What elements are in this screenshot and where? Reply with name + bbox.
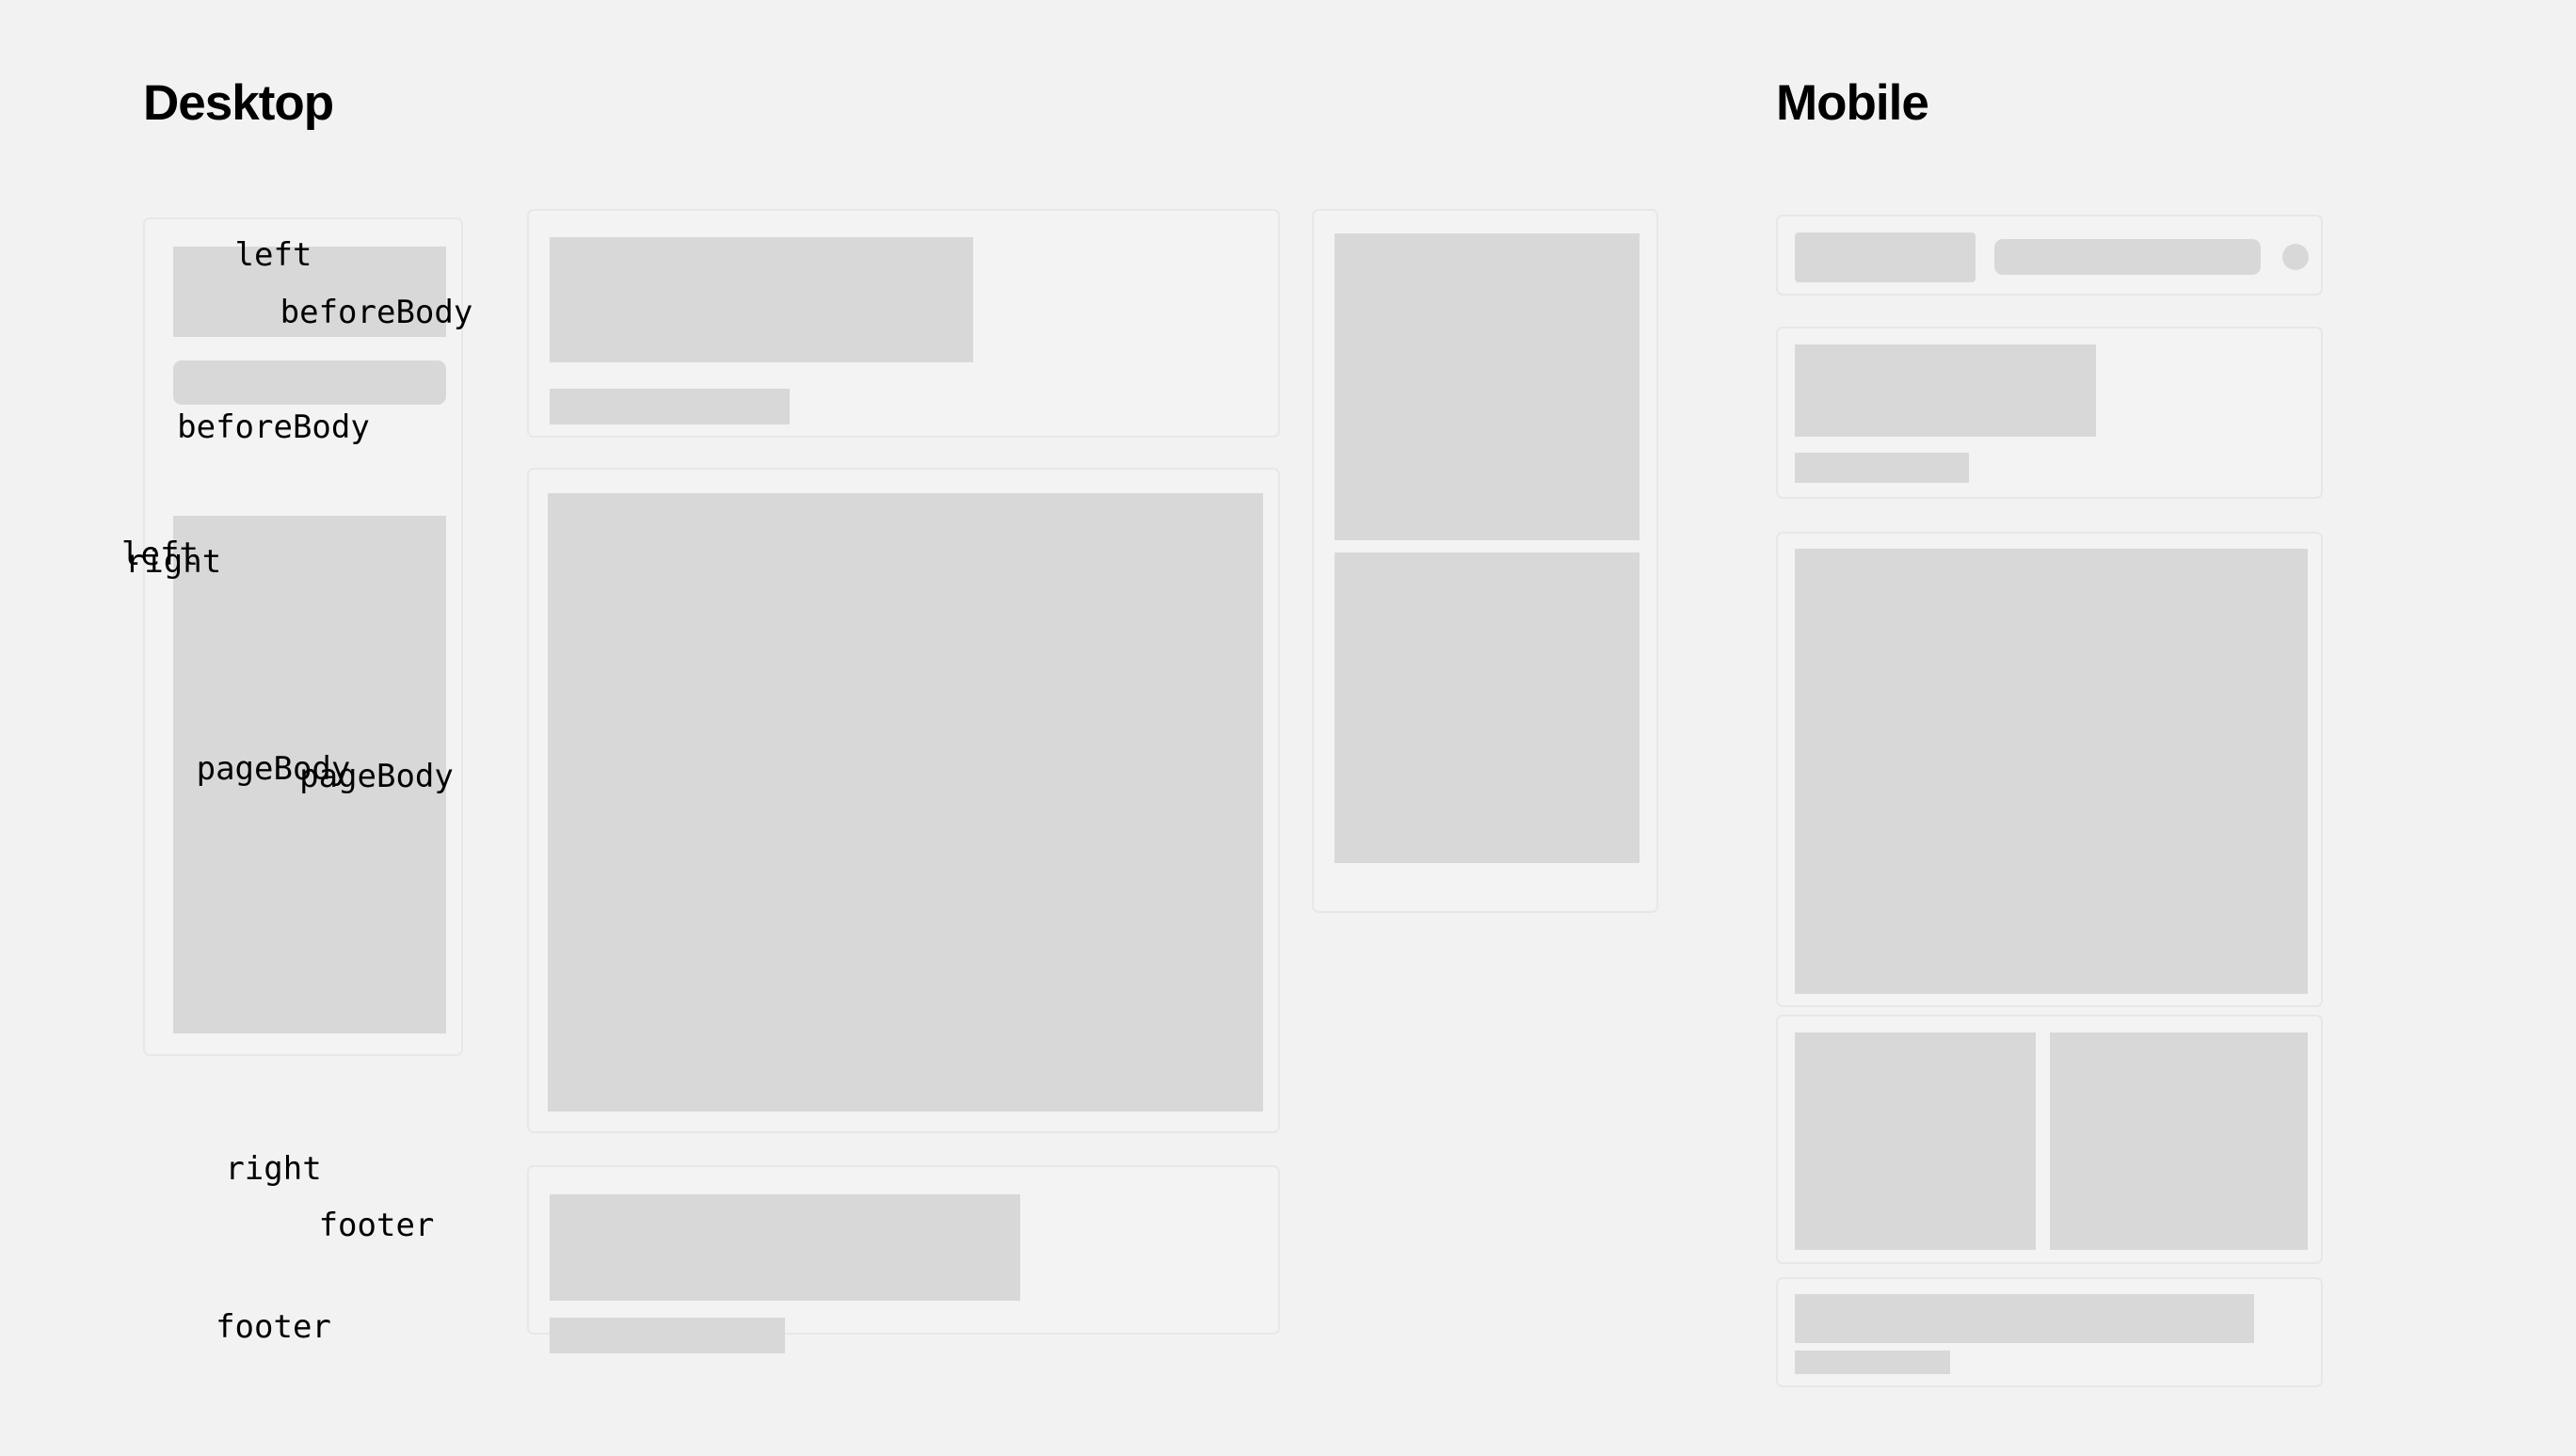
desktop-left-avatar-placeholder [173, 637, 210, 674]
desktop-region-footer[interactable] [527, 1165, 1280, 1335]
mobile-beforebody-caption-placeholder [1795, 453, 1969, 483]
mobile-pagebody-body-placeholder [1795, 549, 2308, 994]
desktop-right-rail-top-placeholder [1335, 233, 1640, 540]
desktop-region-left[interactable] [143, 217, 463, 1056]
desktop-right-rail-bottom-placeholder [1335, 552, 1640, 863]
desktop-region-beforebody[interactable] [527, 209, 1280, 438]
desktop-footer-caption-placeholder [550, 1318, 785, 1353]
desktop-beforebody-banner-placeholder [550, 237, 973, 362]
desktop-left-content-placeholder [173, 516, 446, 1033]
mobile-footer-caption-placeholder [1795, 1351, 1950, 1374]
desktop-pagebody-body-placeholder [548, 493, 1263, 1112]
desktop-beforebody-caption-placeholder [550, 389, 790, 424]
column-title-mobile: Mobile [1776, 78, 1928, 128]
mobile-region-right[interactable] [1776, 1015, 2323, 1264]
mobile-region-footer[interactable] [1776, 1277, 2323, 1387]
mobile-footer-banner-placeholder [1795, 1294, 2254, 1343]
desktop-region-right[interactable] [1312, 209, 1658, 913]
mobile-region-beforebody[interactable] [1776, 327, 2323, 499]
mobile-right-rail-left-placeholder [1795, 1032, 2036, 1250]
mobile-left-subheader-placeholder [1994, 239, 2261, 275]
mobile-right-rail-right-placeholder [2050, 1032, 2308, 1250]
desktop-region-pagebody[interactable] [527, 468, 1280, 1133]
mobile-beforebody-banner-placeholder [1795, 344, 2096, 437]
desktop-left-header-placeholder [173, 247, 446, 337]
mobile-region-label-footer: footer [0, 1311, 547, 1343]
column-title-desktop: Desktop [143, 78, 333, 128]
mobile-region-pagebody[interactable] [1776, 532, 2323, 1007]
mobile-left-avatar-placeholder [2282, 244, 2309, 270]
mobile-region-left[interactable] [1776, 215, 2323, 296]
desktop-left-subheader-placeholder [173, 360, 446, 405]
mobile-left-header-placeholder [1795, 232, 1976, 282]
desktop-footer-banner-placeholder [550, 1194, 1020, 1301]
mobile-region-label-right: right [0, 1153, 547, 1185]
